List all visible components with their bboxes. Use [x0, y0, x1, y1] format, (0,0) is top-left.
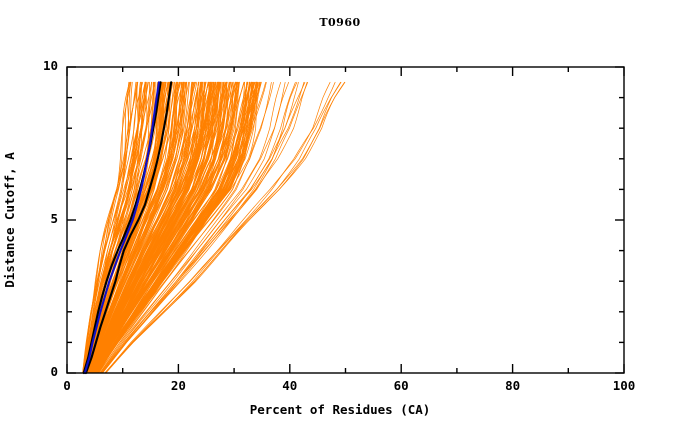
- ensemble-curves-group: [83, 82, 345, 373]
- plot-canvas: [0, 0, 680, 440]
- chart-container: T0960 Percent of Residues (CA) Distance …: [0, 0, 680, 440]
